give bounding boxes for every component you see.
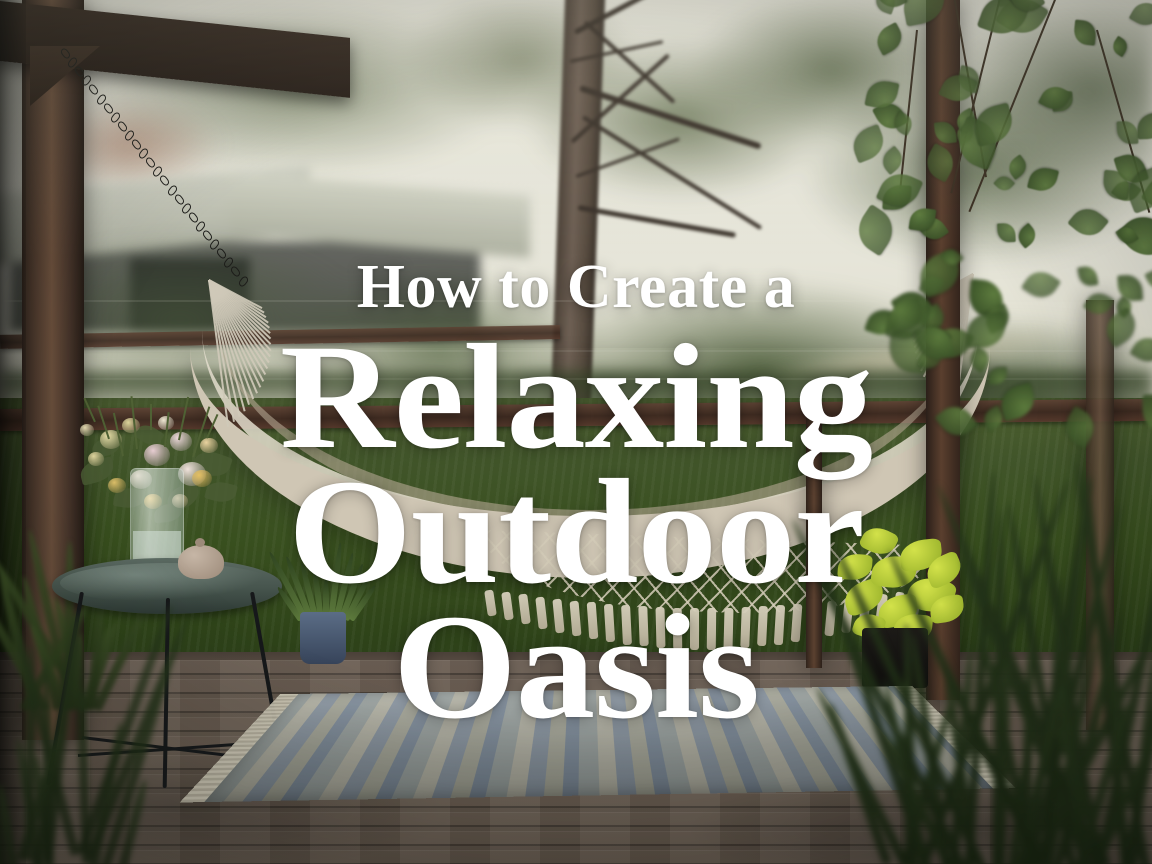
chain-link — [237, 275, 249, 288]
foreground-grass-right — [880, 430, 1152, 864]
vine-leaf — [970, 103, 1017, 147]
vine-leaf — [1129, 0, 1152, 31]
bouquet-stem — [150, 404, 152, 430]
vine-leaf — [1013, 222, 1039, 248]
poster-canvas: How to Create a Relaxing Outdoor Oasis — [0, 0, 1152, 864]
bouquet-stem — [206, 414, 218, 438]
vine-leaf — [1027, 164, 1059, 194]
hammock-tassel — [535, 596, 547, 629]
vine-leaf — [967, 313, 1005, 348]
vine-leaf — [1021, 265, 1061, 304]
plant-blue-pot-foliage — [292, 540, 356, 620]
vine-leaf — [1117, 121, 1139, 145]
hammock-tassel — [518, 594, 531, 625]
vine-leaf — [1110, 35, 1131, 57]
vine-leaf — [988, 367, 1007, 385]
hammock-tassel — [552, 598, 564, 632]
vine-leaf — [933, 120, 956, 145]
hammock-tassel — [655, 607, 665, 648]
hammock-tassel — [570, 600, 582, 636]
hammock-tassel — [740, 607, 751, 649]
bouquet-flower — [170, 432, 192, 451]
hammock-tassel — [791, 604, 803, 643]
hammock-tassel — [501, 592, 514, 621]
vine-stem — [899, 30, 918, 189]
foreground-grass-left — [0, 560, 140, 860]
hammock-tassel — [587, 602, 599, 639]
chain-link — [102, 102, 114, 115]
vine-leaf — [1144, 266, 1152, 292]
hammock-tassel — [774, 605, 785, 645]
hammock-tassel — [621, 605, 632, 645]
chain-link — [173, 193, 185, 206]
hammock-tassel — [723, 608, 733, 650]
hammock-tassel — [484, 589, 497, 616]
hammock-tassel — [673, 608, 683, 650]
vine-leaf — [1067, 201, 1109, 242]
bouquet-flower — [80, 424, 94, 436]
vine-leaf — [1142, 394, 1152, 435]
chain-link — [230, 265, 242, 278]
vine-leaf — [872, 22, 907, 56]
vine-leaf — [850, 204, 902, 257]
vine-leaf — [1077, 265, 1098, 288]
vine-leaf — [1129, 332, 1152, 368]
hammock-tassel — [690, 608, 699, 650]
chain-link — [187, 211, 199, 224]
bouquet-flower — [144, 444, 170, 466]
hammock-tassel — [757, 606, 768, 647]
vine-leaf — [1073, 20, 1097, 46]
vine-leaf — [996, 382, 1038, 422]
hammock-tassel — [707, 608, 717, 650]
vine-leaf — [900, 0, 949, 26]
blue-planter — [300, 612, 346, 664]
vine-leaf — [1005, 154, 1031, 180]
vine-leaf — [1083, 288, 1115, 319]
chain-link — [116, 120, 128, 133]
hammock-tassel — [638, 606, 648, 647]
hanging-chain — [62, 48, 282, 298]
ceramic-pot — [178, 545, 224, 579]
vine-leaf — [1136, 112, 1152, 139]
chain-link — [88, 83, 100, 96]
tree-branch — [578, 205, 736, 238]
vine-leaf — [998, 222, 1016, 242]
climbing-vine — [856, 0, 1152, 440]
chain-link — [159, 174, 171, 187]
bouquet-flower — [88, 452, 104, 466]
vine-leaf — [965, 346, 993, 374]
vine-leaf — [873, 0, 898, 15]
hammock-tassel — [604, 604, 615, 643]
bouquet-flower — [200, 438, 218, 453]
